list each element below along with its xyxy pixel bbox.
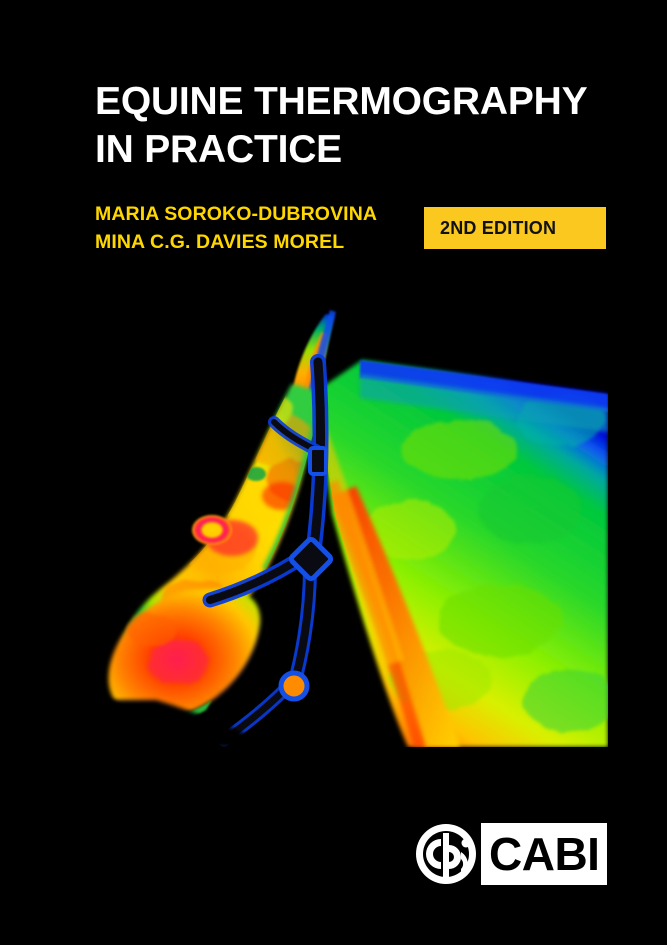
horse-eye xyxy=(192,515,232,545)
author-list: MARIA SOROKO-DUBROVINA MINA C.G. DAVIES … xyxy=(95,200,425,256)
halter-lower-ring xyxy=(281,673,307,699)
author-name: MINA C.G. DAVIES MOREL xyxy=(95,228,425,256)
title-line-2: IN PRACTICE xyxy=(95,126,615,174)
publisher-logo-cabi: CABI xyxy=(411,819,607,889)
edition-badge-label: 2ND EDITION xyxy=(424,218,556,239)
edition-badge: 2ND EDITION xyxy=(424,207,606,249)
page-title: EQUINE THERMOGRAPHYIN PRACTICE xyxy=(95,78,615,174)
halter-buckle xyxy=(310,448,326,474)
title-line-1: EQUINE THERMOGRAPHY xyxy=(95,80,587,123)
cabi-monogram-icon xyxy=(411,819,481,889)
book-cover: EQUINE THERMOGRAPHYIN PRACTICE MARIA SOR… xyxy=(0,0,667,945)
author-name: MARIA SOROKO-DUBROVINA xyxy=(95,200,425,228)
cabi-wordmark: CABI xyxy=(489,823,599,885)
thermal-horse-illustration xyxy=(60,300,608,747)
title-block: EQUINE THERMOGRAPHYIN PRACTICE xyxy=(95,78,615,174)
cover-image-thermal-horse xyxy=(60,300,608,747)
